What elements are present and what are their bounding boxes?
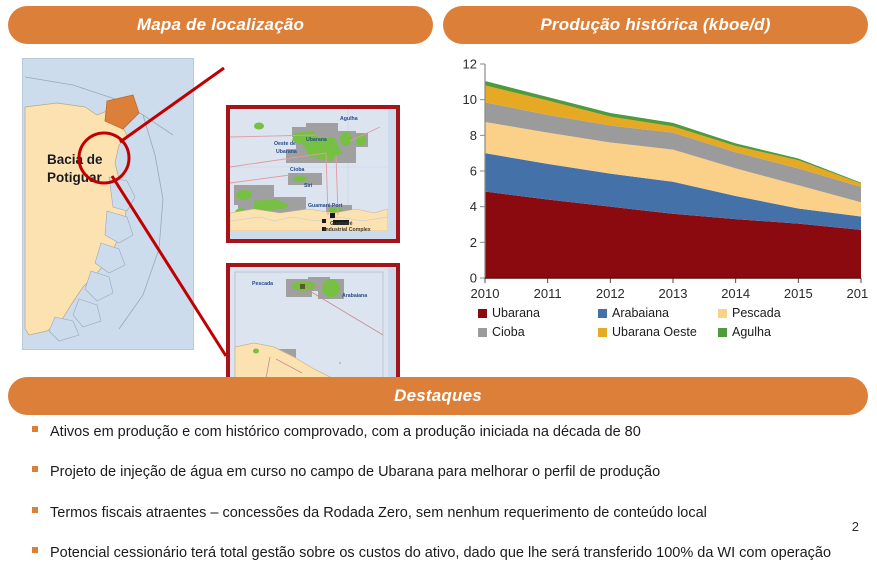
legend-swatch [478, 328, 487, 337]
legend-label: Ubarana [492, 306, 540, 320]
inset-label-siri: Siri [304, 183, 312, 190]
inset-label-arabaiana: Arabaiana [342, 293, 367, 300]
inset-label-pescada: Pescada [252, 281, 273, 288]
y-axis-tick-label: 10 [463, 92, 477, 107]
legend-item-pescada: Pescada [718, 306, 838, 320]
legend-item-arabaiana: Arabaiana [598, 306, 718, 320]
basin-label-line-1: Bacia de [47, 151, 103, 169]
basin-label-line-2: Potiguar [47, 169, 103, 187]
production-section-header: Produção histórica (kboe/d) [443, 6, 868, 44]
chart-y-axis-ticks: 024681012 [463, 57, 485, 286]
legend-item-agulha: Agulha [718, 325, 838, 339]
inset-label-cioba: Cioba [290, 167, 304, 174]
production-area-chart: 024681012 2010201120122013201420152016 [443, 50, 868, 300]
bullet-marker-icon [32, 426, 38, 432]
inset-label-ubarana: Ubarana [306, 137, 327, 144]
production-chart-panel: 024681012 2010201120122013201420152016 U… [443, 50, 868, 362]
inset-label-ubarana-west: Ubarana [276, 149, 297, 156]
legend-label: Pescada [732, 306, 781, 320]
chart-x-axis-ticks: 2010201120122013201420152016 [471, 278, 868, 300]
highlight-item: Termos fiscais atraentes – concessões da… [8, 501, 838, 526]
legend-label: Ubarana Oeste [612, 325, 697, 339]
y-axis-tick-label: 2 [470, 235, 477, 250]
legend-item-cioba: Cioba [478, 325, 598, 339]
highlight-text: Ativos em produção e com histórico compr… [50, 420, 641, 445]
legend-item-ubarana: Ubarana [478, 306, 598, 320]
chart-legend: UbaranaArabaianaPescadaCiobaUbarana Oest… [478, 306, 838, 339]
legend-swatch [478, 309, 487, 318]
highlights-list: Ativos em produção e com histórico compr… [8, 420, 838, 582]
bullet-marker-icon [32, 547, 38, 553]
y-axis-tick-label: 0 [470, 271, 477, 286]
basin-map-graphic [23, 59, 191, 347]
x-axis-tick-label: 2015 [784, 286, 813, 300]
production-section-title: Produção histórica (kboe/d) [540, 15, 770, 35]
bullet-marker-icon [32, 466, 38, 472]
map-inset-top: Agulha Oeste de Ubarana Ubarana Cioba Si… [226, 105, 400, 243]
legend-swatch [598, 309, 607, 318]
inset-label-agulha: Agulha [340, 116, 358, 123]
x-axis-tick-label: 2016 [847, 286, 868, 300]
x-axis-tick-label: 2010 [471, 286, 500, 300]
map-section-title: Mapa de localização [137, 15, 304, 35]
basin-overview-map: Bacia de Potiguar [22, 58, 194, 350]
chart-series-areas [485, 81, 861, 278]
inset-label-guamare-complex: Industrial Complex [324, 227, 371, 234]
x-axis-tick-label: 2011 [534, 286, 562, 300]
map-section-header: Mapa de localização [8, 6, 433, 44]
y-axis-tick-label: 8 [470, 128, 477, 143]
y-axis-tick-label: 4 [470, 199, 477, 214]
highlight-item: Projeto de injeção de água em curso no c… [8, 460, 838, 485]
highlight-text: Projeto de injeção de água em curso no c… [50, 460, 660, 485]
legend-label: Cioba [492, 325, 525, 339]
highlight-text: Termos fiscais atraentes – concessões da… [50, 501, 707, 526]
legend-swatch [718, 328, 727, 337]
legend-item-ubarana-oeste: Ubarana Oeste [598, 325, 718, 339]
legend-swatch [718, 309, 727, 318]
basin-label: Bacia de Potiguar [47, 151, 103, 187]
page-number: 2 [852, 519, 859, 534]
y-axis-tick-label: 12 [463, 57, 477, 72]
inset-label-oeste-de: Oeste de [274, 141, 296, 148]
highlights-section-title: Destaques [394, 386, 482, 406]
legend-swatch [598, 328, 607, 337]
highlight-item: Potencial cessionário terá total gestão … [8, 541, 838, 566]
inset-label-guamare-port: Guamaré Port [308, 203, 342, 210]
x-axis-tick-label: 2014 [721, 286, 750, 300]
highlight-item: Ativos em produção e com histórico compr… [8, 420, 838, 445]
highlights-section-header: Destaques [8, 377, 868, 415]
highlight-text: Potencial cessionário terá total gestão … [50, 541, 831, 566]
legend-label: Agulha [732, 325, 771, 339]
x-axis-tick-label: 2012 [596, 286, 625, 300]
bullet-marker-icon [32, 507, 38, 513]
inset-top-graphic [230, 109, 388, 231]
location-map-panel: Bacia de Potiguar [8, 50, 433, 362]
legend-label: Arabaiana [612, 306, 669, 320]
x-axis-tick-label: 2013 [659, 286, 688, 300]
y-axis-tick-label: 6 [470, 164, 477, 179]
